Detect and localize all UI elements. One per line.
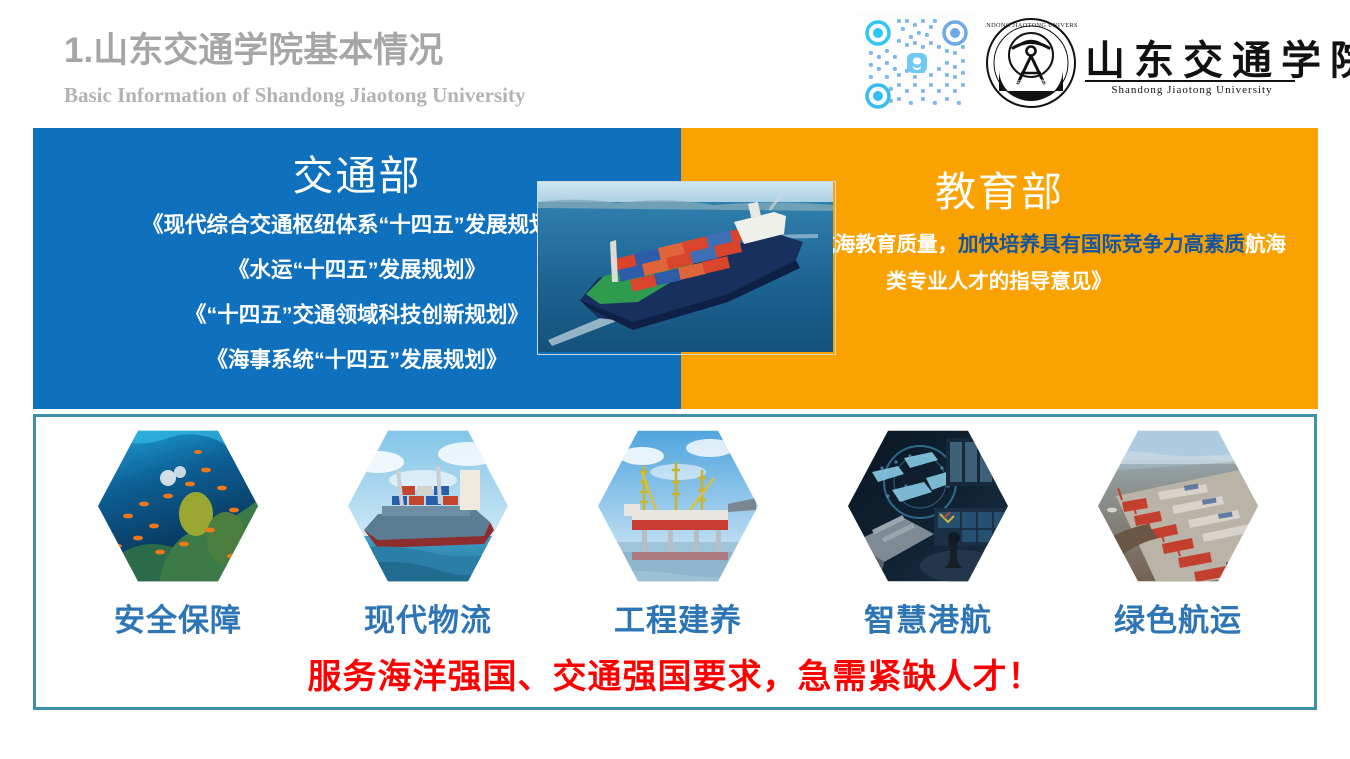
svg-text:山东交通学院: 山东交通学院 [1006, 78, 1056, 87]
container-terminal-aerial-photo-icon [1098, 426, 1258, 586]
container-ship-photo-icon [348, 426, 508, 586]
capability-label: 工程建养 [563, 595, 793, 640]
svg-text:SHANDONG JIAOTONG UNIVERSITY: SHANDONG JIAOTONG UNIVERSITY [985, 22, 1077, 29]
smart-port-tech-photo-icon [848, 426, 1008, 586]
hex-cell-engineering[interactable] [598, 426, 758, 598]
slogan-text: 服务海洋强国、交通强国要求，急需紧缺人才！ [36, 649, 1314, 698]
capability-label: 绿色航运 [1063, 595, 1293, 640]
coral-reef-photo-icon [98, 426, 258, 586]
university-seal-icon: 山东交通学院 SHANDONG JIAOTONG UNIVERSITY [985, 17, 1077, 109]
capability-label: 安全保障 [63, 595, 293, 640]
hex-cell-green-shipping[interactable] [1098, 426, 1258, 598]
hex-cell-safety[interactable] [98, 426, 258, 598]
capability-label: 智慧港航 [813, 595, 1043, 640]
container-ship-photo [537, 181, 836, 355]
slide-root: 1.山东交通学院基本情况 Basic Information of Shando… [0, 0, 1350, 759]
capability-label: 现代物流 [313, 595, 543, 640]
hex-cell-smart-port[interactable] [848, 426, 1008, 598]
university-name-cn: 山东交通学院 [1085, 28, 1350, 86]
hexagon-image-row [36, 426, 1314, 598]
logo-divider [1085, 80, 1295, 82]
capability-panel: 安全保障 现代物流 工程建养 智慧港航 绿色航运 服务海洋强国、交通强国要求，急… [33, 414, 1317, 710]
capability-label-row: 安全保障 现代物流 工程建养 智慧港航 绿色航运 [36, 595, 1314, 643]
university-logo: 山东交通学院 SHANDONG JIAOTONG UNIVERSITY 山东交通… [985, 14, 1305, 114]
page-subtitle: Basic Information of Shandong Jiaotong U… [64, 83, 525, 108]
page-title: 1.山东交通学院基本情况 [64, 22, 443, 73]
hex-cell-logistics[interactable] [348, 426, 508, 598]
university-name-en: Shandong Jiaotong University [1087, 84, 1297, 96]
wechat-qr-code-icon [857, 11, 977, 113]
document-part: 加快培养具有国际竞争力高素质 [958, 233, 1245, 256]
offshore-oil-platform-photo-icon [598, 426, 758, 586]
